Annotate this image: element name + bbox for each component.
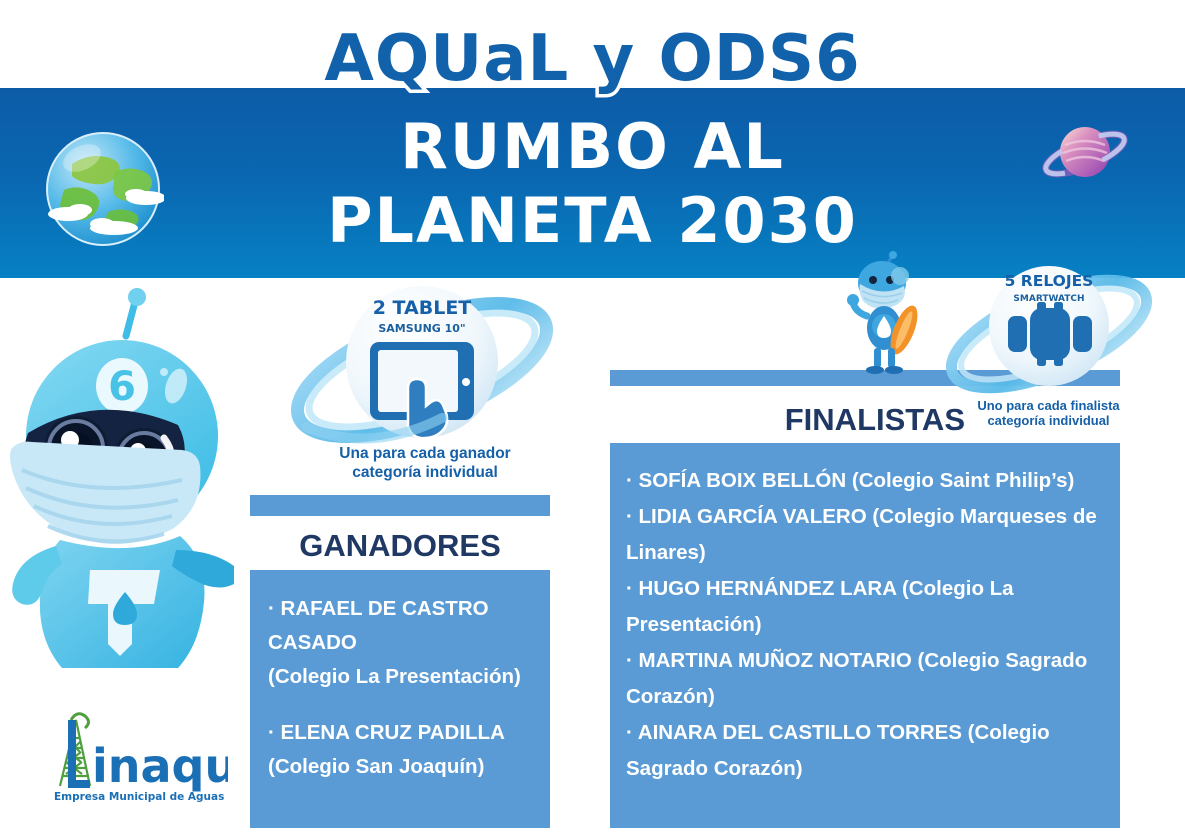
list-item: · MARTINA MUÑOZ NOTARIO (Colegio Sagrado… [626,643,1104,715]
caption-line-2: categoría individual [966,413,1131,428]
prize-smartwatch-graphic: 5 RELOJES SMARTWATCH [942,248,1157,423]
title-line-b: PLANETA 2030 [0,184,1185,258]
winner-name: · ELENA CRUZ PADILLA [268,716,532,750]
list-item: · RAFAEL DE CASTRO CASADO (Colegio La Pr… [268,592,532,694]
winner-school: (Colegio San Joaquín) [268,750,532,784]
page-title-primary: AQUaL y ODS6 [0,22,1185,96]
winner-school: (Colegio La Presentación) [268,660,532,694]
caption-line-2: categoría individual [290,463,560,482]
list-item: · AINARA DEL CASTILLO TORRES (Colegio Sa… [626,715,1104,787]
caption-line-1: Uno para cada finalista [966,398,1131,413]
finalistas-list: · SOFÍA BOIX BELLÓN (Colegio Saint Phili… [610,443,1120,828]
title-line-a: RUMBO AL [0,110,1185,184]
poster-canvas: AQUaL y ODS6 RUMBO AL PLANETA 2030 6 [0,0,1185,832]
linaqua-logo: inaqua Empresa Municipal de Aguas de Lin… [38,700,228,805]
accent-bar-ganadores [250,495,550,516]
logo-tagline: Empresa Municipal de Aguas de Linares [54,791,228,803]
list-item: · ELENA CRUZ PADILLA (Colegio San Joaquí… [268,716,532,784]
prize-title: 2 TABLET [373,297,472,319]
section-heading-ganadores: GANADORES [250,528,550,564]
list-item: · SOFÍA BOIX BELLÓN (Colegio Saint Phili… [626,463,1104,499]
list-item: · HUGO HERNÁNDEZ LARA (Colegio La Presen… [626,571,1104,643]
list-spacer [268,694,532,716]
page-title-secondary: RUMBO AL PLANETA 2030 [0,110,1185,258]
caption-line-1: Una para cada ganador [290,444,560,463]
svg-text:6: 6 [108,364,136,410]
robot-surfboard-mascot [840,250,930,375]
aqual-robot-mascot: 6 [4,288,234,678]
logo-wordmark: inaqua [92,739,228,793]
ganadores-list: · RAFAEL DE CASTRO CASADO (Colegio La Pr… [250,570,550,828]
section-heading-finalistas: FINALISTAS [700,402,965,438]
prize-tablet-caption: Una para cada ganador categoría individu… [290,444,560,482]
list-item: · LIDIA GARCÍA VALERO (Colegio Marqueses… [626,499,1104,571]
prize-smartwatch-caption: Uno para cada finalista categoría indivi… [966,398,1131,428]
prize-title: 5 RELOJES [1005,272,1094,290]
winner-name: · RAFAEL DE CASTRO CASADO [268,592,532,660]
prize-subtitle: SMARTWATCH [1013,294,1084,304]
prize-subtitle: SAMSUNG 10" [378,322,465,335]
